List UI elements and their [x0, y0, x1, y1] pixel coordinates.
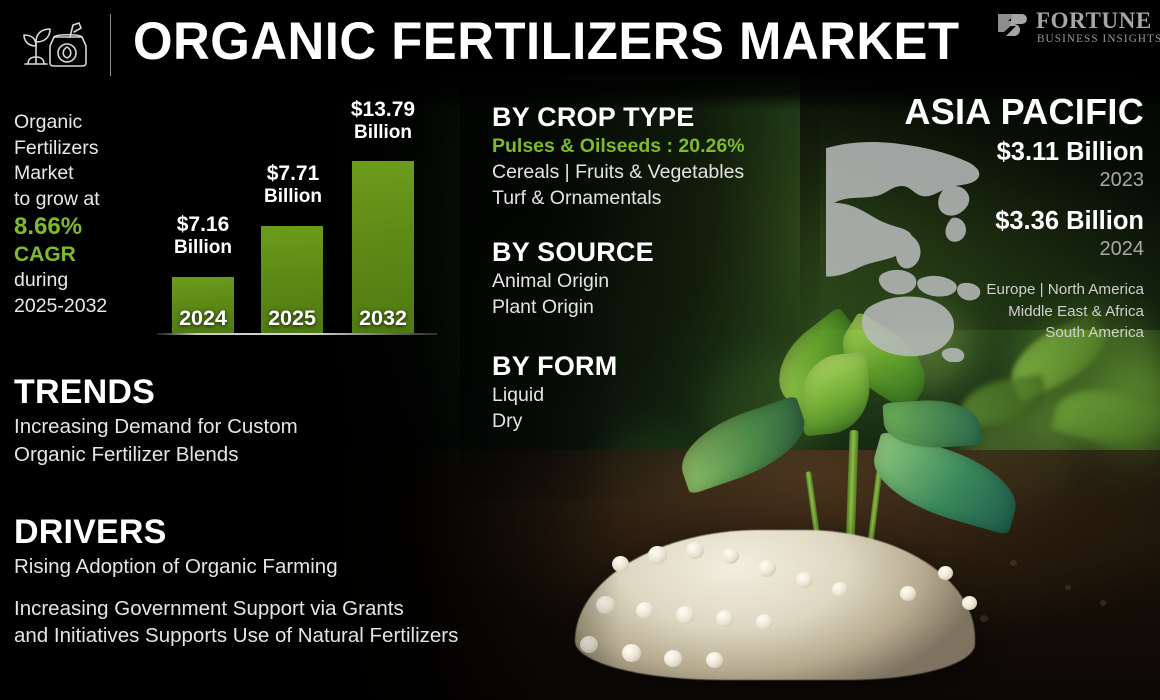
cagr-value: 8.66%: [14, 212, 154, 241]
bar-value-2: $13.79: [351, 98, 415, 121]
fortune-business-insights-logo: FORTUNE BUSINESS INSIGHTS: [996, 10, 1146, 50]
segment-item: Animal Origin: [492, 268, 792, 294]
intro-period: 2025-2032: [14, 294, 154, 320]
intro-line-1: Organic: [14, 110, 154, 136]
segmentation-column: BY CROP TYPE Pulses & Oilseeds : 20.26% …: [492, 101, 792, 434]
bar-unit-0: Billion: [148, 236, 258, 259]
segment-item: Liquid: [492, 382, 792, 408]
regional-insights: ASIA PACIFIC $3.11 Billion 2023 $3.36 Bi…: [844, 90, 1144, 344]
infographic-canvas: ORGANIC FERTILIZERS MARKET FORTUNE BUSIN…: [0, 0, 1160, 700]
segment-item: Cereals | Fruits & Vegetables: [492, 159, 792, 185]
bar-value-1: $7.71: [267, 162, 320, 185]
segment-heading: BY FORM: [492, 350, 792, 382]
intro-line-5: during: [14, 268, 154, 294]
trends-line-1: Increasing Demand for Custom: [14, 413, 534, 441]
region-title: ASIA PACIFIC: [844, 90, 1144, 134]
bar-year-2025: 2025: [261, 307, 323, 329]
bar-unit-2: Billion: [328, 121, 438, 144]
segment-by-form: BY FORM Liquid Dry: [492, 350, 792, 434]
bar-unit-1: Billion: [238, 185, 348, 208]
intro-line-2: Fertilizers: [14, 136, 154, 162]
trends-line-2: Organic Fertilizer Blends: [14, 441, 534, 469]
trends-heading: TRENDS: [14, 372, 534, 413]
intro-line-3: Market: [14, 161, 154, 187]
fb-monogram-icon: [996, 12, 1030, 42]
bar-value-label: $13.79 Billion: [328, 98, 438, 144]
market-size-bar-chart: $7.16 Billion $7.71 Billion $13.79 Billi…: [150, 95, 450, 335]
market-growth-summary: Organic Fertilizers Market to grow at 8.…: [14, 110, 154, 320]
brand-name: FORTUNE: [1036, 9, 1152, 33]
drivers-item-2-line-2: and Initiatives Supports Use of Natural …: [14, 622, 554, 650]
segment-heading: BY CROP TYPE: [492, 101, 792, 133]
segment-highlight: Pulses & Oilseeds : 20.26%: [492, 133, 792, 159]
drivers-item-1: Rising Adoption of Organic Farming: [14, 553, 554, 581]
paragraph-gap: [14, 581, 554, 595]
bar-value-0: $7.16: [177, 213, 230, 236]
bar-year-2024: 2024: [172, 307, 234, 329]
drivers-section: DRIVERS Rising Adoption of Organic Farmi…: [14, 512, 554, 650]
page-title: ORGANIC FERTILIZERS MARKET: [133, 11, 960, 73]
bar-year-2032: 2032: [352, 307, 414, 329]
header-divider: [110, 14, 111, 76]
drivers-item-2-line-1: Increasing Government Support via Grants: [14, 595, 554, 623]
asia-pacific-map-icon: [826, 132, 1036, 362]
trends-section: TRENDS Increasing Demand for Custom Orga…: [14, 372, 534, 468]
segment-by-crop-type: BY CROP TYPE Pulses & Oilseeds : 20.26% …: [492, 101, 792, 211]
bar-value-label: $7.71 Billion: [238, 162, 348, 208]
segment-by-source: BY SOURCE Animal Origin Plant Origin: [492, 236, 792, 320]
chart-baseline-axis: [157, 333, 437, 335]
header-bar: ORGANIC FERTILIZERS MARKET FORTUNE BUSIN…: [0, 0, 1160, 92]
segment-item: Plant Origin: [492, 294, 792, 320]
drivers-heading: DRIVERS: [14, 512, 554, 553]
segment-item: Turf & Ornamentals: [492, 185, 792, 211]
intro-line-4: to grow at: [14, 187, 154, 213]
bar-value-label: $7.16 Billion: [148, 213, 258, 259]
cagr-label: CAGR: [14, 241, 154, 268]
segment-item: Dry: [492, 408, 792, 434]
segment-heading: BY SOURCE: [492, 236, 792, 268]
fertilizer-bag-and-sprout-icon: [14, 12, 92, 76]
brand-subtitle: BUSINESS INSIGHTS: [1037, 33, 1160, 46]
